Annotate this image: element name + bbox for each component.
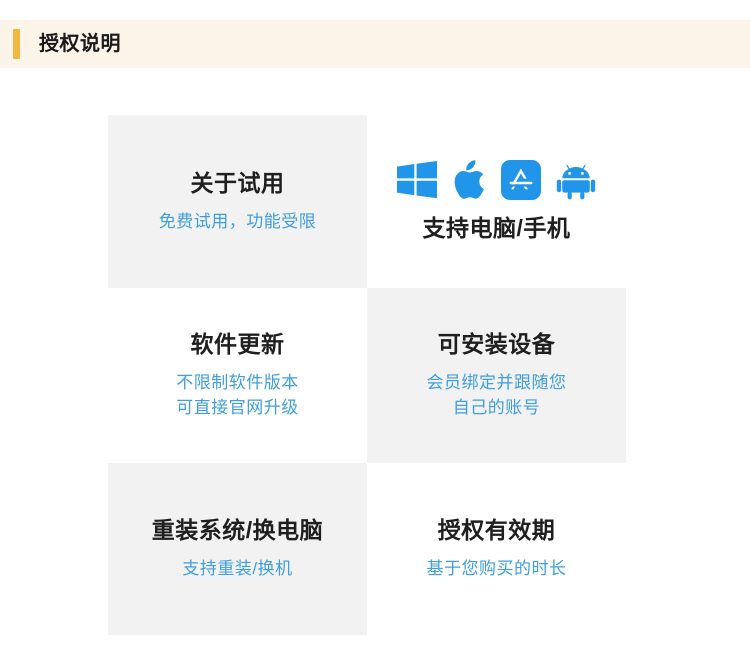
feature-subtitle: 不限制软件版本 可直接官网升级	[176, 371, 299, 420]
feature-subtitle: 免费试用，功能受限	[159, 210, 317, 235]
section-header-accent-bar	[13, 29, 20, 59]
feature-title: 支持电脑/手机	[423, 214, 571, 243]
feature-subtitle-line: 基于您购买的时长	[427, 557, 567, 582]
section-header: 授权说明	[0, 20, 750, 68]
feature-subtitle-line: 不限制软件版本	[176, 371, 299, 396]
feature-subtitle-line: 支持重装/换机	[182, 557, 292, 582]
apple-icon	[452, 160, 486, 200]
feature-subtitle-line: 可直接官网升级	[176, 396, 299, 421]
feature-title: 关于试用	[191, 169, 285, 198]
feature-cell-about-trial: 关于试用 免费试用，功能受限	[108, 115, 367, 288]
feature-cell-license-period: 授权有效期 基于您购买的时长	[367, 463, 626, 635]
page-title: 授权说明	[39, 34, 121, 54]
windows-icon	[397, 161, 437, 199]
feature-subtitle: 支持重装/换机	[182, 557, 292, 582]
feature-title: 软件更新	[191, 330, 285, 359]
feature-title: 重装系统/换电脑	[152, 516, 323, 545]
feature-subtitle: 会员绑定并跟随您 自己的账号	[427, 371, 567, 420]
feature-cell-installable-devices: 可安装设备 会员绑定并跟随您 自己的账号	[367, 288, 626, 463]
feature-subtitle-line: 自己的账号	[427, 396, 567, 421]
app-store-icon	[501, 160, 541, 200]
license-feature-grid: 关于试用 免费试用，功能受限	[108, 115, 626, 635]
feature-cell-software-update: 软件更新 不限制软件版本 可直接官网升级	[108, 288, 367, 463]
feature-subtitle-line: 会员绑定并跟随您	[427, 371, 567, 396]
feature-title: 可安装设备	[438, 330, 556, 359]
feature-subtitle-line: 免费试用，功能受限	[159, 210, 317, 235]
feature-cell-reinstall-system: 重装系统/换电脑 支持重装/换机	[108, 463, 367, 635]
feature-title: 授权有效期	[438, 516, 556, 545]
platform-icon-row	[397, 160, 596, 200]
android-icon	[556, 160, 596, 200]
feature-cell-supported-platforms: 支持电脑/手机	[367, 115, 626, 288]
feature-subtitle: 基于您购买的时长	[427, 557, 567, 582]
